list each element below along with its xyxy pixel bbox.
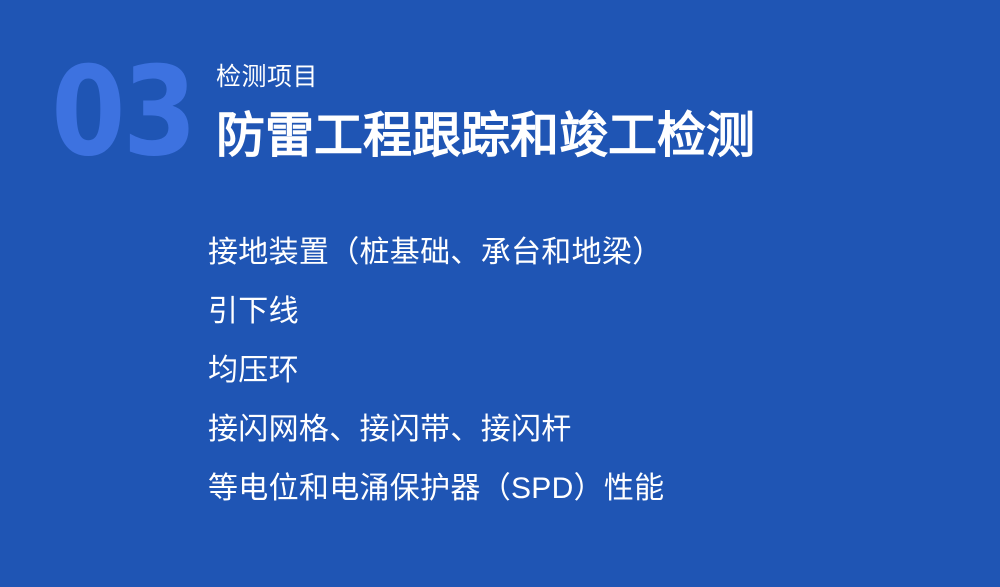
slide-header: 检测项目 防雷工程跟踪和竣工检测 bbox=[216, 60, 956, 164]
detection-item-list: 接地装置（桩基础、承台和地梁） 引下线 均压环 接闪网格、接闪带、接闪杆 等电位… bbox=[208, 232, 968, 510]
slide-eyebrow: 检测项目 bbox=[216, 60, 956, 94]
section-number-text: 03 bbox=[51, 52, 194, 175]
presentation-slide: 03 检测项目 防雷工程跟踪和竣工检测 接地装置（桩基础、承台和地梁） 引下线 … bbox=[0, 0, 1000, 587]
list-item: 接地装置（桩基础、承台和地梁） bbox=[208, 232, 968, 274]
list-item: 均压环 bbox=[208, 350, 968, 392]
slide-title: 防雷工程跟踪和竣工检测 bbox=[216, 108, 956, 164]
list-item: 接闪网格、接闪带、接闪杆 bbox=[208, 409, 968, 451]
list-item: 等电位和电涌保护器（SPD）性能 bbox=[208, 468, 968, 510]
list-item: 引下线 bbox=[208, 291, 968, 333]
section-number-badge: 03 bbox=[58, 48, 188, 178]
